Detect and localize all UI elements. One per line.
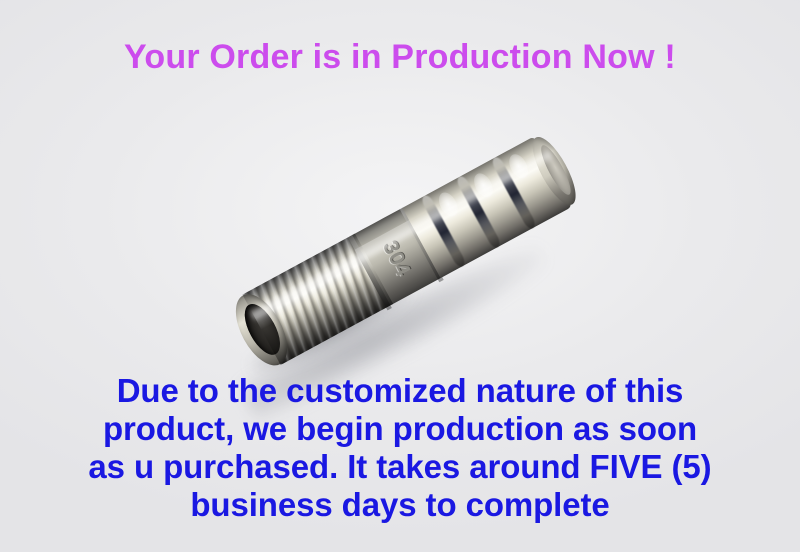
notice-banner: Your Order is in Production Now ! 304 [0,0,800,552]
notice-line-2: product, we begin production as soon [0,410,800,448]
page-title: Your Order is in Production Now ! [0,40,800,76]
product-photo: 304 [190,135,620,380]
production-notice-text: Due to the customized nature of this pro… [0,372,800,524]
notice-line-4: business days to complete [0,486,800,524]
notice-line-3: as u purchased. It takes around FIVE (5) [0,448,800,486]
notice-line-1: Due to the customized nature of this [0,372,800,410]
